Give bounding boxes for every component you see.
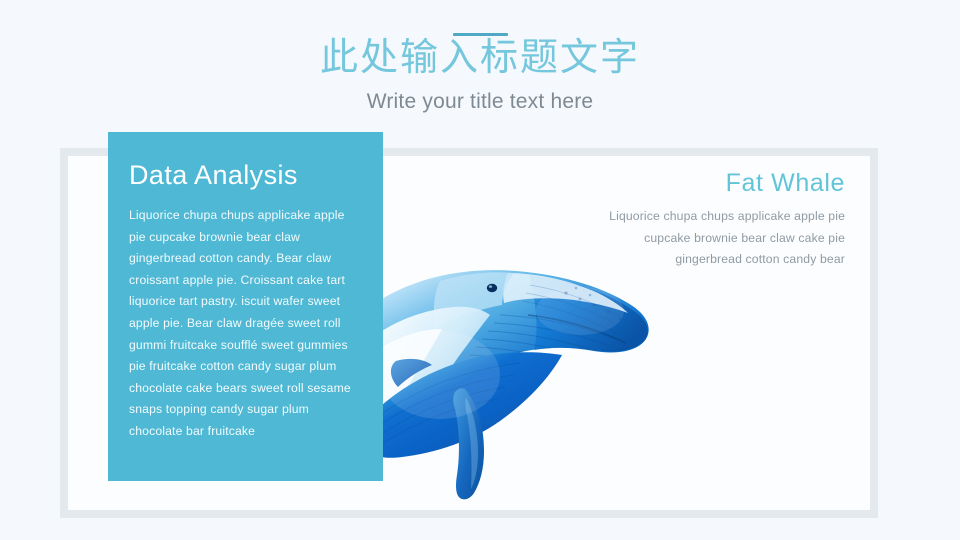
panel-body-text: Liquorice chupa chups applicake apple pi… (129, 205, 360, 443)
fat-whale-body-text: Liquorice chupa chups applicake apple pi… (575, 206, 845, 271)
fat-whale-heading: Fat Whale (575, 167, 845, 199)
page-subtitle-en: Write your title text here (0, 89, 960, 115)
page-title-cn: 此处输入标题文字 (0, 36, 960, 80)
data-analysis-panel: Data Analysis Liquorice chupa chups appl… (108, 132, 383, 481)
slide-canvas: 此处输入标题文字 Write your title text here (0, 0, 960, 540)
panel-heading: Data Analysis (129, 158, 360, 192)
fat-whale-block: Fat Whale Liquorice chupa chups applicak… (575, 167, 845, 271)
